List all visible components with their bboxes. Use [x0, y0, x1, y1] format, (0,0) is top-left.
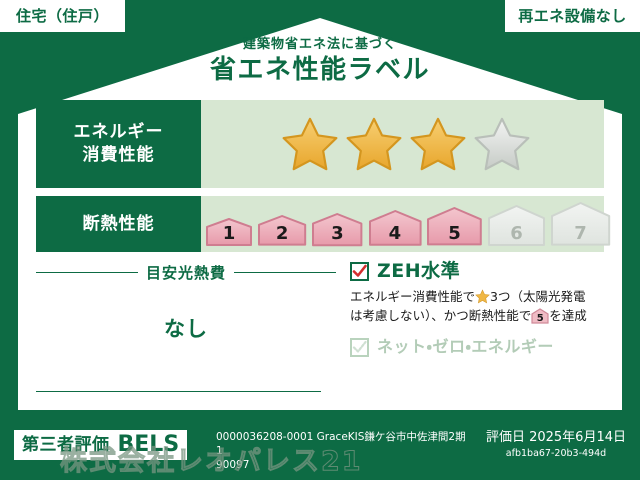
utility-cost-block: 目安光熱費 なし	[36, 262, 336, 402]
net-zero-title: ネット・ゼロ・エネルギー	[377, 339, 554, 355]
star-rating	[275, 115, 531, 173]
utility-cost-title: 目安光熱費	[146, 262, 226, 283]
net-zero-energy-row: ネット・ゼロ・エネルギー	[350, 338, 604, 357]
bels-logo-text: BELS	[118, 434, 180, 456]
house-level-number: 6	[487, 225, 546, 243]
house-level-5: 5	[426, 206, 483, 246]
title-subtitle: 建築物省エネ法に基づく	[0, 38, 640, 52]
insulation-rating-value: 1234567	[201, 196, 615, 252]
house-level-7: 7	[550, 201, 611, 247]
utility-cost-value: なし	[36, 313, 336, 343]
house-scale: 1234567	[201, 201, 615, 247]
zeh-checkbox	[350, 262, 369, 281]
zeh-desc-part3: を達成	[549, 308, 587, 323]
lower-section: 目安光熱費 なし ZEH水準 エネルギー消費性能で3つ（太陽光発電 は考慮しない…	[36, 262, 604, 402]
insulation-performance-row: 断熱性能 1234567	[36, 196, 604, 252]
inline-house-number: 5	[531, 314, 549, 324]
cost-bottom-divider	[36, 391, 321, 392]
house-level-4: 4	[368, 209, 423, 247]
evaluation-date-block: 評価日 2025年6月14日 afb1ba67-20b3-494d	[486, 430, 626, 460]
star-filled-icon	[345, 115, 403, 173]
renewable-equipment-tag: 再エネ設備なし	[505, 0, 640, 32]
evaluation-date: 評価日 2025年6月14日	[486, 430, 626, 447]
star-filled-icon	[281, 115, 339, 173]
house-level-number: 7	[550, 225, 611, 243]
page-title: 省エネ性能ラベル	[0, 54, 640, 87]
house-level-number: 5	[426, 225, 483, 243]
insulation-performance-label: 断熱性能	[36, 196, 201, 252]
energy-label-line2: 消費性能	[83, 144, 155, 167]
house-level-number: 3	[311, 225, 363, 243]
energy-performance-label: 住宅（住戸） 再エネ設備なし 建築物省エネ法に基づく 省エネ性能ラベル エネルギ…	[0, 0, 640, 480]
certificate-id: 0000036208-0001 GraceKIS鎌ケ谷市中佐津間2期1 9009…	[216, 430, 466, 473]
energy-label-line1: エネルギー	[74, 121, 164, 144]
bels-badge: 第三者評価 BELS	[14, 430, 187, 460]
house-level-number: 1	[205, 225, 253, 243]
building-type-tag: 住宅（住戸）	[0, 0, 125, 32]
house-level-1: 1	[205, 217, 253, 247]
house-level-2: 2	[257, 214, 307, 247]
star-empty-icon	[473, 115, 531, 173]
inline-star-icon	[475, 289, 490, 304]
performance-section: エネルギー 消費性能 断熱性能 1234567	[36, 100, 604, 260]
energy-performance-row: エネルギー 消費性能	[36, 100, 604, 188]
certificate-id-line1: 0000036208-0001 GraceKIS鎌ケ谷市中佐津間2期1	[216, 430, 466, 458]
star-filled-icon	[409, 115, 467, 173]
house-level-3: 3	[311, 212, 363, 247]
cost-rule-left	[36, 272, 138, 273]
net-zero-checkbox	[350, 338, 369, 357]
certificate-id-line2: 90097	[216, 458, 466, 472]
house-level-number: 2	[257, 225, 307, 243]
title-block: 建築物省エネ法に基づく 省エネ性能ラベル	[0, 38, 640, 87]
zeh-desc-stars: 3つ（太陽光発電	[490, 289, 585, 304]
zeh-desc-part1: エネルギー消費性能で	[350, 289, 475, 304]
standards-block: ZEH水準 エネルギー消費性能で3つ（太陽光発電 は考慮しない）、かつ断熱性能で…	[336, 262, 604, 402]
third-party-label: 第三者評価	[22, 437, 110, 454]
zeh-title: ZEH水準	[377, 262, 460, 281]
utility-cost-heading: 目安光熱費	[36, 262, 336, 283]
cost-rule-right	[234, 272, 336, 273]
zeh-description: エネルギー消費性能で3つ（太陽光発電 は考慮しない）、かつ断熱性能で5を達成	[350, 287, 604, 326]
house-level-number: 4	[368, 225, 423, 243]
energy-rating-value	[201, 100, 604, 188]
inline-house-icon: 5	[531, 308, 549, 324]
evaluation-uuid: afb1ba67-20b3-494d	[486, 448, 626, 460]
insulation-label-text: 断熱性能	[83, 213, 155, 236]
zeh-desc-part2: は考慮しない）、かつ断熱性能で	[350, 308, 531, 323]
energy-performance-label: エネルギー 消費性能	[36, 100, 201, 188]
house-level-6: 6	[487, 204, 546, 247]
footer-bar: 第三者評価 BELS 0000036208-0001 GraceKIS鎌ケ谷市中…	[0, 418, 640, 480]
zeh-standard-row: ZEH水準	[350, 262, 604, 281]
